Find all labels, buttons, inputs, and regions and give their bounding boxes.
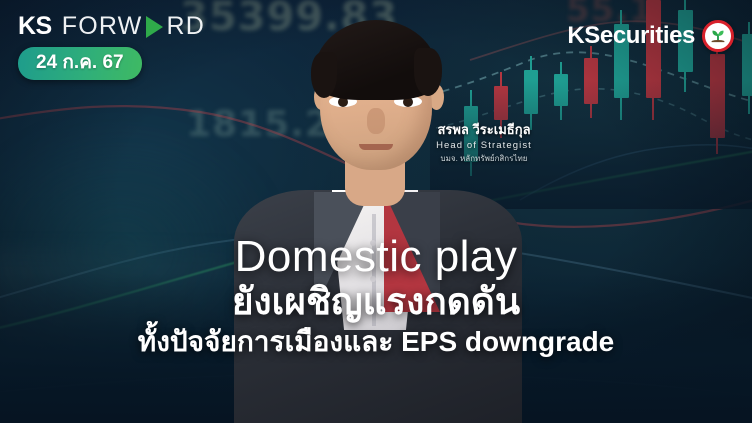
headline-line-2: ยังเผชิญแรงกดดัน xyxy=(0,280,752,324)
speaker-name: สรพล วีระเมธีกุล xyxy=(399,122,569,138)
speaker-info-block: สรพล วีระเมธีกุล Head of Strategist บมจ.… xyxy=(399,122,569,165)
ksecurities-logo[interactable]: KSecurities xyxy=(567,20,734,52)
mouth xyxy=(359,144,393,150)
headline-line-3: ทั้งปัจจัยการเมืองและ EPS downgrade xyxy=(0,324,752,360)
ksecurities-wordmark: KSecurities xyxy=(567,22,695,50)
seedling-icon xyxy=(702,20,734,52)
headline-block: Domestic play ยังเผชิญแรงกดดัน ทั้งปัจจั… xyxy=(0,233,752,361)
logo-forward-text: FORW RD xyxy=(62,12,205,41)
speaker-portrait xyxy=(228,14,528,423)
speaker-organization: บมจ. หลักทรัพย์กสิกรไทย xyxy=(399,152,569,165)
play-triangle-icon xyxy=(146,16,163,38)
logo-forward-part2: RD xyxy=(166,12,205,41)
ks-forward-logo[interactable]: KS FORW RD xyxy=(18,12,205,41)
hair xyxy=(314,20,438,100)
ksecurities-rest: Securities xyxy=(584,22,695,49)
logo-ks-text: KS xyxy=(18,12,52,41)
ksecurities-k: K xyxy=(567,22,584,49)
speaker-role: Head of Strategist xyxy=(399,140,569,151)
date-badge: 24 ก.ค. 67 xyxy=(18,47,142,80)
ks-forward-video-thumbnail: 35399.83 1815.2 55.1 xyxy=(0,0,752,423)
logo-forward-part1: FORW xyxy=(62,12,143,41)
nose xyxy=(367,108,385,134)
headline-line-1: Domestic play xyxy=(0,233,752,281)
